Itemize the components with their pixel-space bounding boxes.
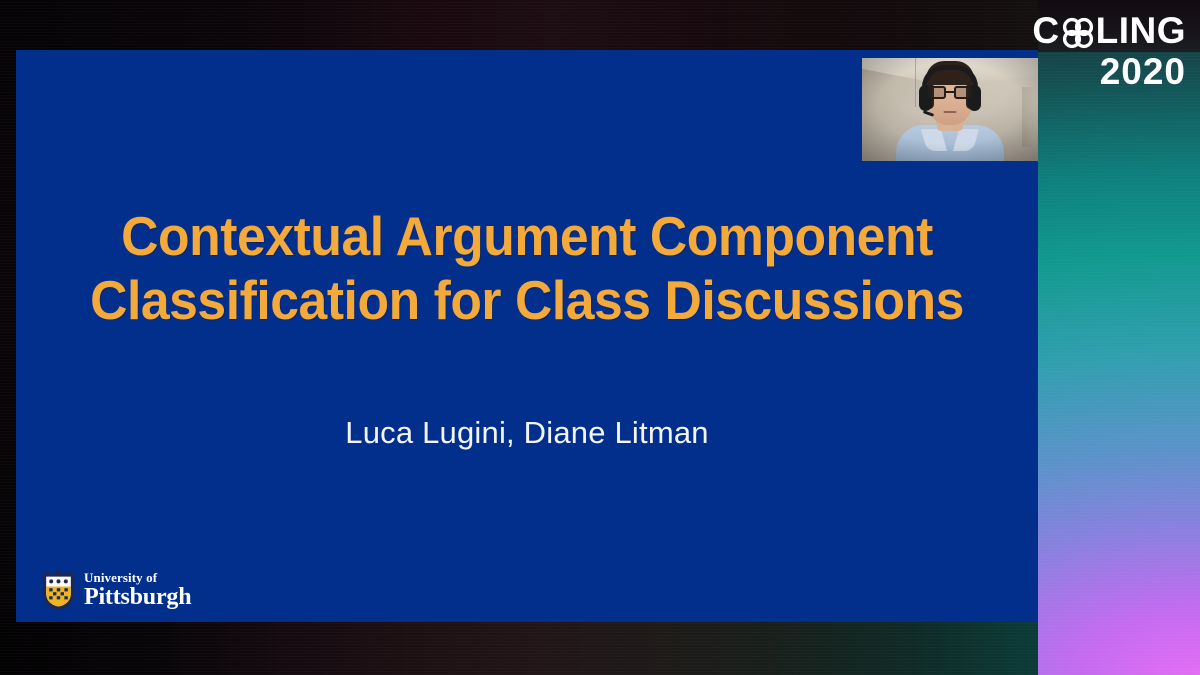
- university-logo: University of Pittsburgh: [42, 570, 191, 610]
- video-player-stage: C LING 2020 Contextual Argument Componen…: [0, 0, 1200, 675]
- eyeglass-lens-right: [954, 86, 972, 99]
- presenter-mouth: [944, 111, 957, 113]
- coling-conference-logo: C LING 2020: [1032, 12, 1186, 90]
- university-wordmark: University of Pittsburgh: [84, 571, 191, 609]
- slide-author-list: Luca Lugini, Diane Litman: [16, 415, 1038, 451]
- eyeglass-bridge: [946, 91, 954, 93]
- university-wordmark-line-1: University of: [84, 571, 191, 584]
- pitt-shield-crest-icon: [42, 570, 75, 610]
- interlocking-rings-quatrefoil-icon: [1061, 16, 1095, 50]
- backdrop-bottom-band: [0, 622, 1038, 675]
- presenter-video-overlay[interactable]: [862, 58, 1038, 161]
- backdrop-top-band: [0, 0, 1200, 52]
- eyeglass-lens-left: [928, 86, 946, 99]
- coling-logo-prefix: C: [1032, 12, 1059, 49]
- slide-title: Contextual Argument Component Classifica…: [47, 204, 1008, 332]
- university-wordmark-line-2: Pittsburgh: [84, 585, 191, 609]
- coling-logo-year: 2020: [1032, 53, 1186, 90]
- eyeglasses-icon: [928, 86, 972, 99]
- coling-logo-line-1: C LING: [1032, 12, 1186, 49]
- backdrop-left-band: [0, 50, 17, 625]
- coling-logo-suffix: LING: [1096, 12, 1186, 49]
- presenter-figure: [862, 58, 1038, 161]
